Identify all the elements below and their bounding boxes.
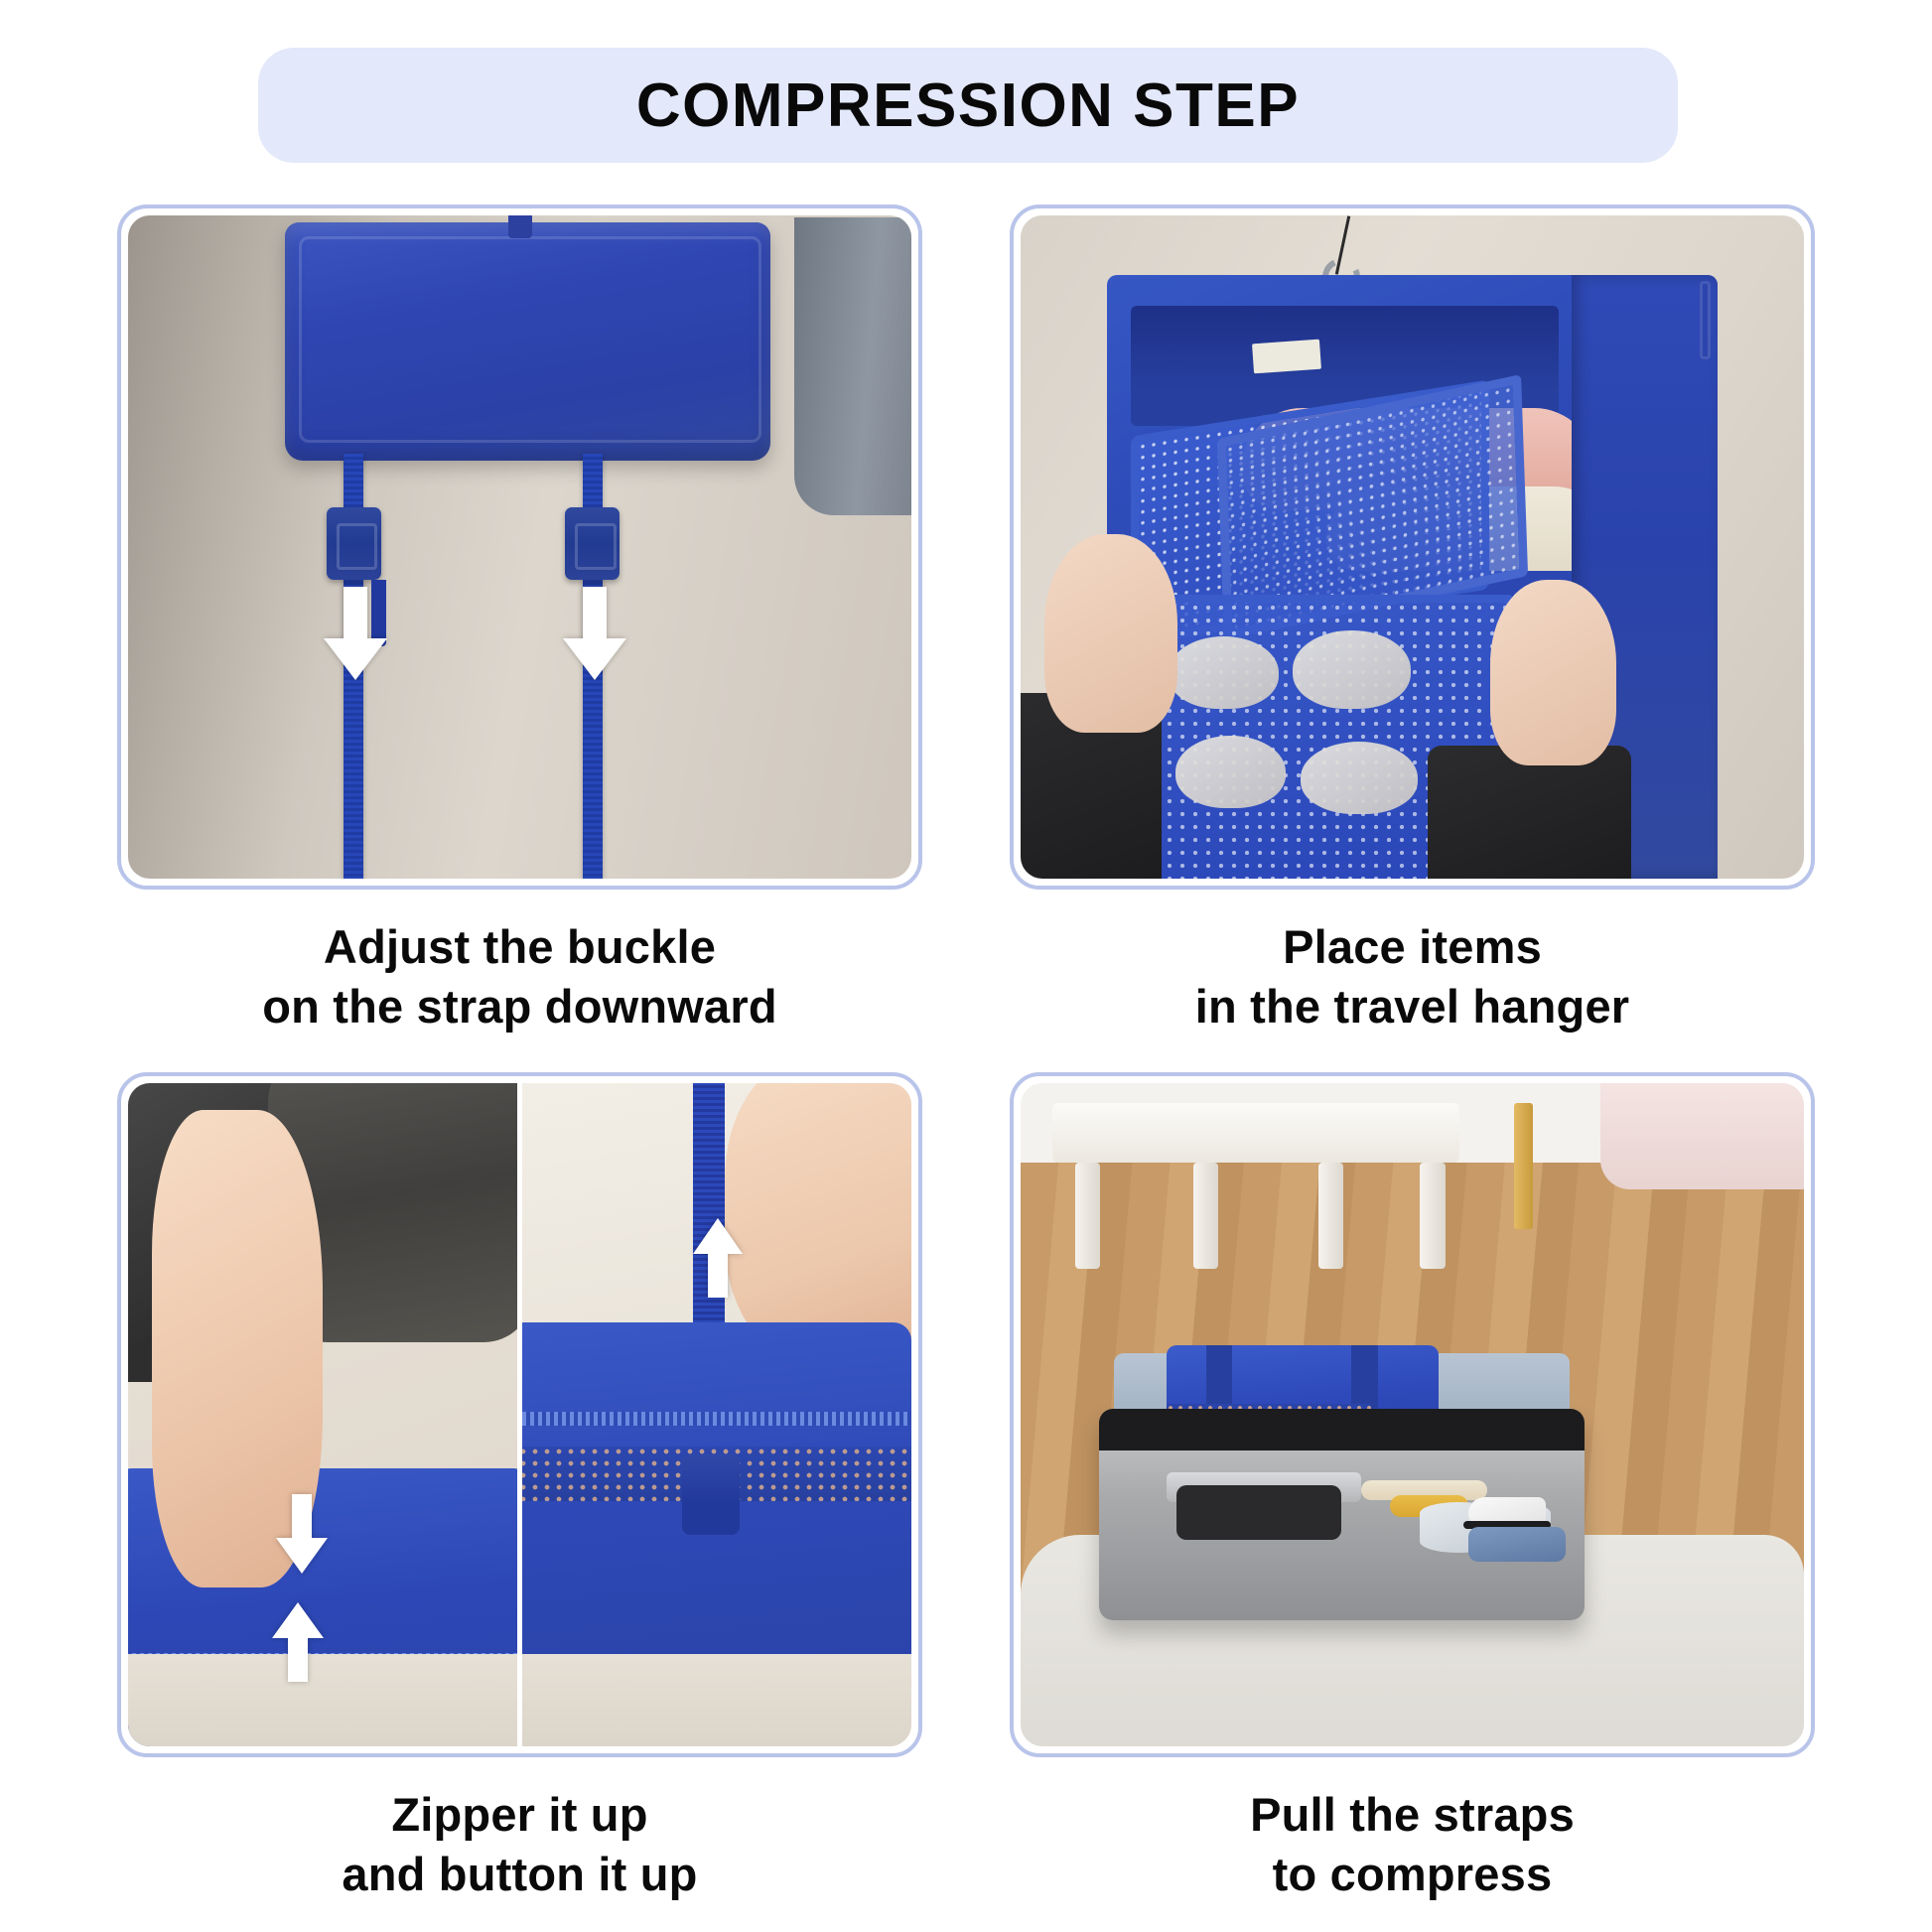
step-card-1: Adjust the buckle on the strap downward <box>117 205 922 1036</box>
down-arrow-zipper-icon <box>272 1494 332 1576</box>
photo-2-place-items <box>1021 215 1804 879</box>
hanger-carry-handle <box>1700 281 1710 359</box>
hanging-shirt <box>794 217 911 515</box>
suitcase <box>1099 1409 1585 1621</box>
photo-frame-4 <box>1010 1072 1815 1757</box>
caption-2: Place items in the travel hanger <box>1195 917 1630 1036</box>
photo-3-zip-and-button <box>128 1083 911 1746</box>
rolled-garment-d <box>1301 742 1418 814</box>
infographic-page: COMPRESSION STEP <box>0 0 1932 1932</box>
rolled-garment-c <box>1175 736 1286 808</box>
gold-furniture-leg <box>1514 1103 1533 1229</box>
zipper-track-right <box>522 1412 911 1426</box>
care-label-tag <box>1252 340 1321 374</box>
caption-1-line-2: on the strap downward <box>262 977 777 1036</box>
bed-edge <box>1600 1083 1804 1189</box>
photo-frame-3 <box>117 1072 922 1757</box>
table-leg-3 <box>1318 1163 1343 1269</box>
floor-right <box>522 1654 911 1747</box>
left-hand <box>1044 534 1177 733</box>
photo-frame-2 <box>1010 205 1815 890</box>
down-arrow-left-strap-icon <box>320 587 391 682</box>
caption-1: Adjust the buckle on the strap downward <box>262 917 777 1036</box>
caption-2-line-1: Place items <box>1283 920 1542 973</box>
buckle-left <box>327 507 381 580</box>
packing-cube <box>285 222 770 461</box>
header-banner: COMPRESSION STEP <box>258 48 1678 163</box>
up-arrow-strap-icon <box>689 1216 747 1298</box>
buckle-right <box>565 507 620 580</box>
photo-frame-1 <box>117 205 922 890</box>
caption-4-line-2: to compress <box>1250 1845 1575 1904</box>
table-leg-2 <box>1193 1163 1218 1269</box>
caption-4: Pull the straps to compress <box>1250 1785 1575 1904</box>
step-card-3: Zipper it up and button it up <box>117 1072 922 1904</box>
right-sleeve <box>1428 746 1631 879</box>
photo-1-adjust-buckle <box>128 215 911 879</box>
caption-3-line-2: and button it up <box>342 1845 697 1904</box>
caption-3: Zipper it up and button it up <box>342 1785 697 1904</box>
photo-3-left-half <box>128 1083 517 1746</box>
up-arrow-zipper-icon <box>268 1600 328 1682</box>
folded-jeans <box>1468 1527 1566 1561</box>
right-hand <box>1490 580 1615 765</box>
photo-4-pull-straps <box>1021 1083 1804 1746</box>
step-card-2: Place items in the travel hanger <box>1010 205 1815 1036</box>
buckle-right-photo <box>682 1454 741 1534</box>
table-leg-1 <box>1075 1163 1100 1269</box>
photo-3-right-half <box>522 1083 911 1746</box>
caption-1-line-1: Adjust the buckle <box>324 920 716 973</box>
pulling-hand <box>725 1083 911 1362</box>
suitcase-rim <box>1099 1409 1585 1451</box>
caption-2-line-2: in the travel hanger <box>1195 977 1630 1036</box>
rolled-garment-b <box>1293 630 1410 708</box>
page-title: COMPRESSION STEP <box>636 70 1300 141</box>
steps-grid: Adjust the buckle on the strap downward <box>0 205 1932 1905</box>
caption-3-line-1: Zipper it up <box>391 1788 647 1841</box>
table-leg-4 <box>1420 1163 1445 1269</box>
suitcase-handle <box>1176 1485 1341 1541</box>
step-card-4: Pull the straps to compress <box>1010 1072 1815 1904</box>
rolled-garment-a <box>1169 636 1279 709</box>
zipper-pull-icon <box>508 215 532 238</box>
down-arrow-right-strap-icon <box>559 587 630 682</box>
caption-4-line-1: Pull the straps <box>1250 1788 1575 1841</box>
side-table-top <box>1052 1103 1459 1163</box>
